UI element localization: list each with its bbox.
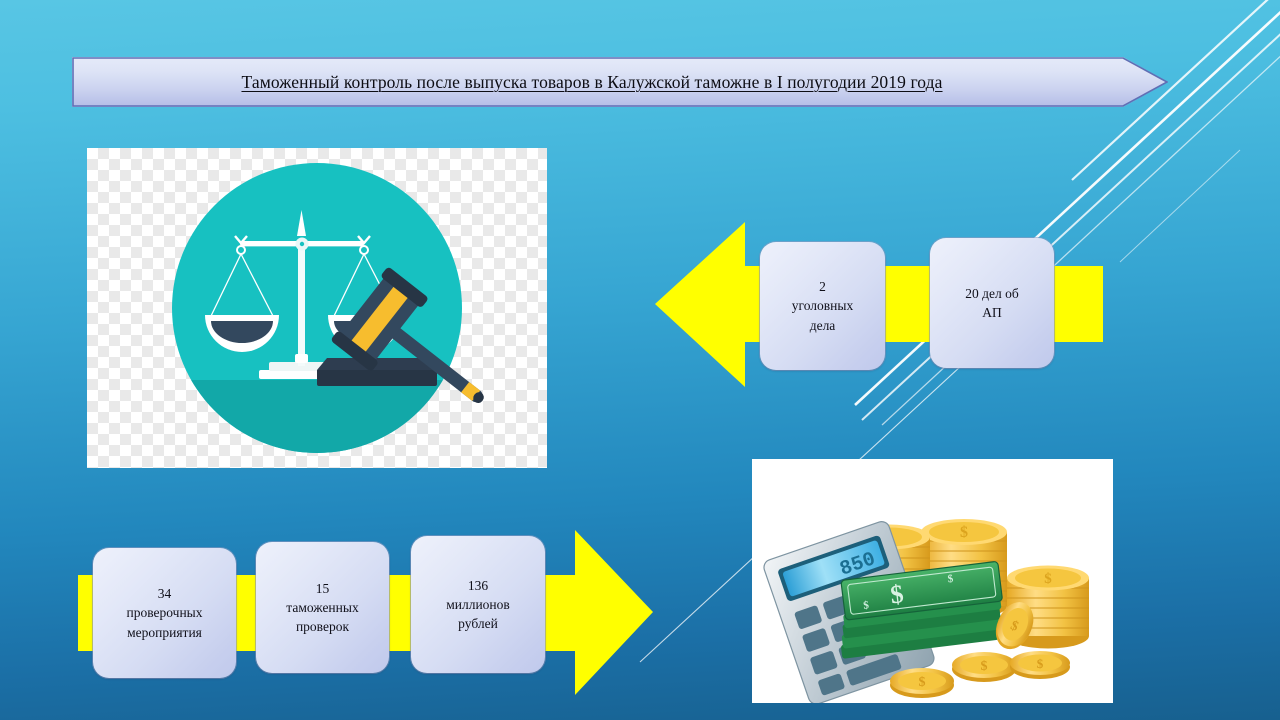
stat-label-line2: рублей <box>458 614 498 633</box>
stat-label-line2: дела <box>810 316 836 335</box>
stat-box-inspection-measures[interactable]: 34 проверочных мероприятия <box>93 548 236 678</box>
stat-number: 2 <box>819 277 826 296</box>
stat-box-criminal-cases[interactable]: 2 уголовных дела <box>760 242 885 370</box>
svg-text:$: $ <box>981 659 988 674</box>
page-title: Таможенный контроль после выпуска товаро… <box>72 57 1112 107</box>
slide-canvas: Таможенный контроль после выпуска товаро… <box>0 0 1280 720</box>
stat-box-customs-checks[interactable]: 15 таможенных проверок <box>256 542 389 673</box>
scales-image-panel <box>87 148 547 468</box>
stat-label-line1: проверочных <box>127 603 203 622</box>
stat-label-line2: мероприятия <box>127 623 202 642</box>
svg-text:$: $ <box>1037 656 1044 671</box>
stat-box-administrative-cases[interactable]: 20 дел об АП <box>930 238 1054 368</box>
stat-box-million-rubles[interactable]: 136 миллионов рублей <box>411 536 545 673</box>
stat-label-line1: уголовных <box>792 296 853 315</box>
stat-label-line1: таможенных <box>286 598 358 617</box>
svg-text:$: $ <box>1044 571 1052 587</box>
justice-scales-gavel-icon <box>87 148 547 468</box>
stat-number: 34 <box>158 584 172 603</box>
title-banner: Таможенный контроль после выпуска товаро… <box>72 57 1168 107</box>
svg-text:$: $ <box>919 675 926 690</box>
stat-number: 136 <box>468 576 488 595</box>
stat-label-line1: АП <box>982 303 1002 322</box>
stat-number: 15 <box>316 579 330 598</box>
stat-label-line1: миллионов <box>446 595 510 614</box>
stat-number: 20 дел об <box>965 284 1018 303</box>
stat-label-line2: проверок <box>296 617 349 636</box>
svg-text:$: $ <box>960 524 968 541</box>
calculator-coins-money-icon: $ $ <box>752 459 1113 703</box>
money-image-panel: $ $ <box>752 459 1113 703</box>
